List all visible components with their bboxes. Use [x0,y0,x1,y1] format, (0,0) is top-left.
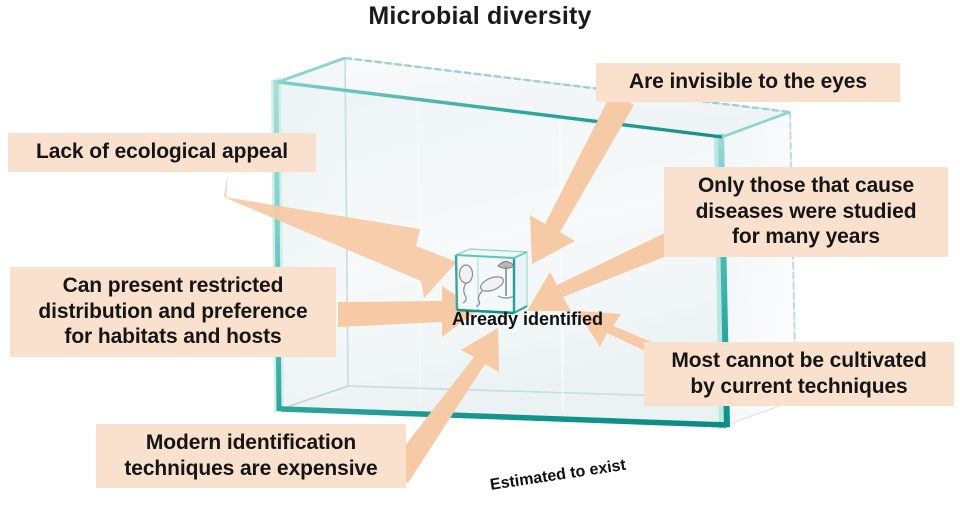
callout-line: techniques are expensive [106,456,396,482]
inner-cube-left-vertical-edge [456,255,457,310]
callout-only-disease-causing-studied[interactable]: Only those that cause diseases were stud… [664,167,948,257]
callout-line: Most cannot be cultivated [654,348,944,374]
figure-canvas: Microbial diversity [0,0,960,523]
callout-cannot-be-cultivated[interactable]: Most cannot be cultivated by current tec… [644,342,954,406]
inner-cube-right-face [514,252,527,313]
label-already-identified: Already identified [452,309,603,330]
callout-invisible-to-the-eyes[interactable]: Are invisible to the eyes [596,63,900,102]
cube-front-left-vertical-edge [276,80,279,411]
callout-modern-techniques-expensive[interactable]: Modern identification techniques are exp… [96,424,406,488]
callout-line: for many years [674,224,938,250]
callout-line: diseases were studied [674,199,938,225]
callout-line: Modern identification [106,430,396,456]
inner-glass-cube [456,249,527,313]
callout-line: by current techniques [654,374,944,400]
page-title: Microbial diversity [0,2,960,31]
callout-line: Lack of ecological appeal [18,139,306,165]
callout-line: Can present restricted [20,273,326,299]
callout-line: for habitats and hosts [20,324,326,350]
callout-line: Only those that cause [674,173,938,199]
callout-restricted-distribution[interactable]: Can present restricted distribution and … [10,267,336,357]
callout-line: distribution and preference [20,299,326,325]
callout-line: Are invisible to the eyes [606,69,890,95]
callout-lack-of-ecological-appeal[interactable]: Lack of ecological appeal [8,133,316,172]
